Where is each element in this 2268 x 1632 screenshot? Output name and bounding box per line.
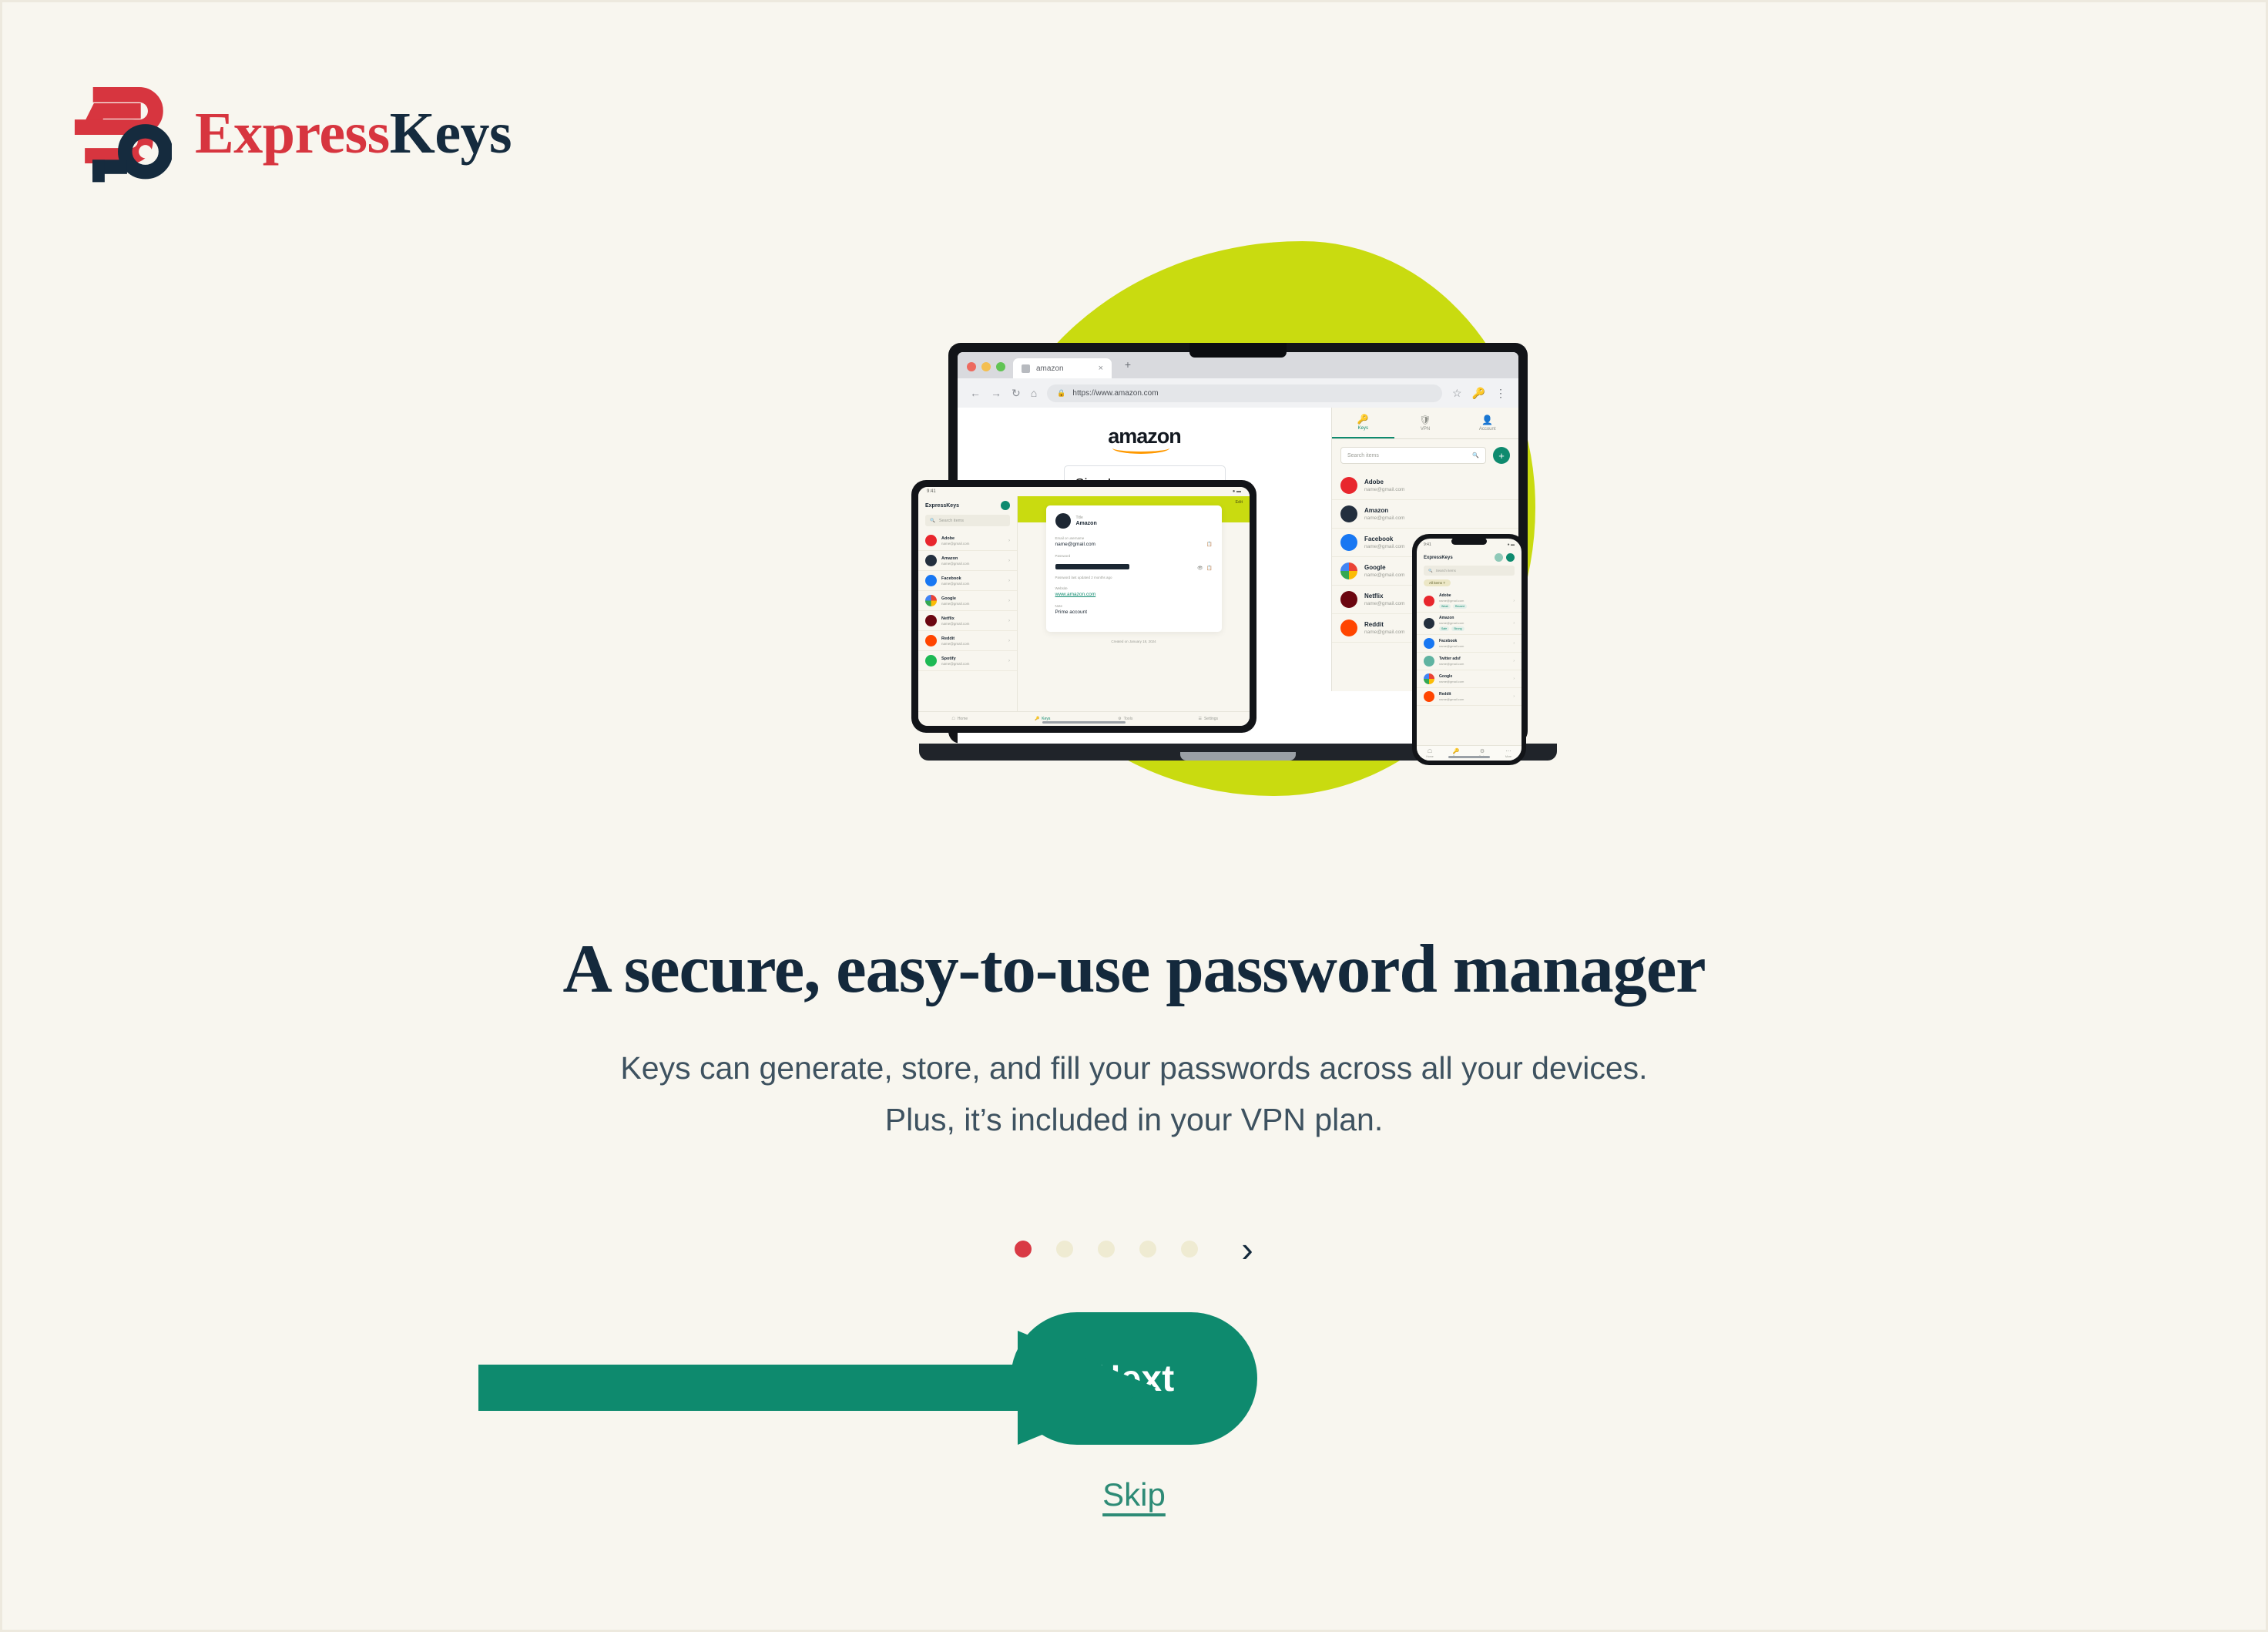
amazon-icon: [925, 555, 937, 566]
tablet-sidebar-header: ExpressKeys: [918, 496, 1017, 515]
tablet-tab-bar: ☖ Home 🔑 Keys ⚙ Tools ☰: [918, 711, 1250, 726]
list-item-subtitle: name@gmail.com: [941, 622, 1004, 626]
phone-tab-home-label: Home: [1426, 755, 1433, 758]
tablet-detail-pane: Edit Title Amazon: [1018, 496, 1250, 711]
list-item-name: Facebook: [941, 576, 1004, 581]
credential-username-field: Email or username name@gmail.com 📋: [1055, 536, 1213, 547]
list-item-subtitle: name@gmail.com: [941, 582, 1004, 586]
status-indicators-icon: ● ▬: [1233, 489, 1241, 494]
avatar[interactable]: [1506, 553, 1515, 562]
list-item-name: Spotify: [941, 656, 1004, 661]
list-item-subtitle: name@gmail.com: [1439, 662, 1508, 666]
chevron-right-icon[interactable]: ›: [1241, 1231, 1253, 1267]
tablet-viewport: 9:41 ● ▬ ExpressKeys 🔍 Search items: [918, 487, 1250, 726]
twitter-icon: [1424, 656, 1434, 667]
extension-search-placeholder: Search items: [1347, 453, 1379, 458]
brand-wordmark-keys: Keys: [390, 101, 512, 166]
list-item-name: Amazon: [941, 556, 1004, 561]
amazon-icon: [1424, 618, 1434, 629]
pagination-dot-3[interactable]: [1098, 1241, 1115, 1258]
status-indicators-icon: ● ▬: [1508, 542, 1515, 547]
list-item-name: Facebook: [1439, 639, 1508, 643]
extension-tab-bar: 🔑 Keys 🛡 VPN 👤 Account: [1332, 408, 1518, 439]
close-tab-icon[interactable]: ×: [1099, 364, 1103, 373]
tablet-edit-button[interactable]: Edit: [1236, 500, 1243, 505]
chevron-right-icon: ›: [1008, 599, 1010, 603]
list-item-tag: Reused: [1453, 604, 1467, 609]
tablet-credential-card: Title Amazon Email or username name@gmai…: [1046, 505, 1222, 632]
window-traffic-lights: [967, 362, 1005, 378]
status-time: 9:41: [1424, 542, 1431, 547]
list-item-name: Adobe: [941, 536, 1004, 541]
person-icon: 👤: [1481, 415, 1493, 425]
google-icon: [1424, 673, 1434, 684]
tablet-app-title: ExpressKeys: [925, 503, 959, 509]
credential-note-label: Note: [1055, 604, 1213, 608]
brand-wordmark: ExpressKeys: [195, 104, 512, 163]
home-icon: ☖: [951, 717, 955, 721]
phone-tab-bar: ☖ Home 🔑 Keys ⚙ Tools ⋯: [1417, 745, 1522, 761]
reddit-icon: [1340, 620, 1357, 636]
lock-icon: 🔒: [1057, 389, 1065, 398]
list-item[interactable]: Adobe name@gmail.com Weak Reused ›: [1417, 590, 1522, 613]
phone-filter-chip[interactable]: All items 7: [1424, 579, 1451, 586]
tablet-main: ExpressKeys 🔍 Search items Adobe: [918, 496, 1250, 711]
bookmark-icon[interactable]: ☆: [1452, 388, 1462, 398]
next-button[interactable]: Next: [1011, 1312, 1257, 1445]
adobe-icon: [1340, 477, 1357, 494]
credential-note-value: Prime account: [1055, 609, 1213, 615]
phone-notch: [1451, 538, 1487, 545]
list-item[interactable]: Amazon name@gmail.com ›: [918, 551, 1017, 571]
credential-password-hint: Password last updated 2 months ago: [1055, 576, 1213, 579]
phone-search-input[interactable]: 🔍 Search items: [1424, 566, 1515, 576]
close-window-icon[interactable]: [967, 362, 976, 371]
back-icon[interactable]: ←: [970, 388, 981, 398]
chevron-right-icon: ›: [1513, 641, 1515, 646]
list-item-name: Adobe: [1439, 593, 1508, 598]
key-icon: 🔑: [1453, 749, 1460, 754]
tablet-tab-home-label: Home: [958, 717, 968, 721]
copy-icon[interactable]: 📋: [1206, 542, 1212, 547]
list-item-subtitle: name@gmail.com: [941, 542, 1004, 546]
maximize-window-icon[interactable]: [996, 362, 1005, 371]
reddit-icon: [925, 635, 937, 646]
list-item-name: Reddit: [1439, 692, 1508, 697]
list-item-subtitle: name@gmail.com: [941, 662, 1004, 666]
extension-tab-keys[interactable]: 🔑 Keys: [1332, 408, 1394, 438]
phone-tab-home[interactable]: ☖ Home: [1417, 749, 1443, 758]
tablet-tab-settings-label: Settings: [1204, 717, 1218, 721]
list-item-name: Adobe: [1364, 479, 1510, 485]
extension-tab-account[interactable]: 👤 Account: [1456, 408, 1518, 438]
chevron-right-icon: ›: [1008, 659, 1010, 663]
tablet-bezel: 9:41 ● ▬ ExpressKeys 🔍 Search items: [911, 480, 1256, 733]
search-icon: 🔍: [1428, 569, 1433, 573]
facebook-icon: [1340, 534, 1357, 551]
list-item[interactable]: Spotify name@gmail.com ›: [918, 651, 1017, 671]
tablet-tab-settings[interactable]: ☰ Settings: [1167, 717, 1250, 721]
expresskeys-logo-icon: [70, 82, 172, 184]
tablet-tab-home[interactable]: ☖ Home: [918, 717, 1001, 721]
list-item[interactable]: Netflix name@gmail.com ›: [918, 611, 1017, 631]
avatar[interactable]: [1001, 501, 1010, 510]
list-item-subtitle: name@gmail.com: [1439, 644, 1508, 648]
key-icon: 🔑: [1357, 415, 1369, 424]
tab-favicon-icon: [1022, 364, 1030, 373]
chevron-right-icon: ›: [1513, 621, 1515, 626]
list-item[interactable]: Amazon name@gmail.com Safe Strong ›: [1417, 613, 1522, 635]
credential-title-label: Title: [1076, 515, 1097, 520]
list-item[interactable]: Reddit name@gmail.com ›: [918, 631, 1017, 651]
list-item[interactable]: Adobe name@gmail.com: [1332, 472, 1518, 500]
phone-app-title: ExpressKeys: [1424, 556, 1453, 560]
list-item[interactable]: Adobe name@gmail.com ›: [918, 531, 1017, 551]
adobe-icon: [925, 535, 937, 546]
browser-tab[interactable]: amazon ×: [1013, 358, 1112, 378]
list-item-subtitle: name@gmail.com: [941, 562, 1004, 566]
list-item[interactable]: Facebook name@gmail.com ›: [918, 571, 1017, 591]
tablet-search-placeholder: Search items: [939, 519, 964, 523]
list-item-tag: Safe: [1439, 626, 1449, 631]
pagination-dot-1[interactable]: [1015, 1241, 1032, 1258]
page-subtitle-line-2: Plus, it’s included in your VPN plan.: [2, 1094, 2266, 1145]
credential-website-field: Website www.amazon.com: [1055, 586, 1213, 597]
laptop-foot: [1180, 752, 1296, 761]
list-item[interactable]: Facebook name@gmail.com ›: [1417, 635, 1522, 653]
chevron-right-icon: ›: [1008, 639, 1010, 643]
amazon-icon: [1055, 513, 1071, 529]
phone-tab-more[interactable]: ⋯ More: [1495, 749, 1522, 758]
credential-password-masked: [1055, 564, 1129, 569]
skip-link[interactable]: Skip: [1102, 1476, 1166, 1513]
list-item-name: Amazon: [1364, 507, 1510, 514]
extension-tab-keys-label: Keys: [1358, 426, 1368, 431]
credential-password-field: Password 👁 📋 Password last updated: [1055, 554, 1213, 579]
chevron-right-icon: ›: [1513, 659, 1515, 663]
carousel-pagination: ›: [2, 1231, 2266, 1267]
shield-icon: 🛡: [1419, 415, 1431, 425]
extension-tab-account-label: Account: [1479, 427, 1496, 432]
phone-bezel: 9:41 ● ▬ ExpressKeys 🔍 Search items: [1412, 534, 1526, 765]
credential-password-label: Password: [1055, 554, 1213, 558]
list-item-name: Google: [941, 596, 1004, 601]
chevron-right-icon: ›: [1008, 539, 1010, 543]
more-icon: ⋯: [1506, 749, 1511, 754]
list-item-subtitle: name@gmail.com: [1364, 515, 1510, 521]
home-icon: ☖: [1428, 749, 1432, 754]
list-item-subtitle: name@gmail.com: [1439, 599, 1508, 603]
extension-search-input[interactable]: Search items 🔍: [1340, 447, 1486, 464]
netflix-icon: [1340, 591, 1357, 608]
hero-illustration: amazon × + ← → ↻ ⌂ 🔒 https://www.amazon.…: [911, 226, 1605, 912]
tablet-sidebar: ExpressKeys 🔍 Search items Adobe: [918, 496, 1018, 711]
phone-viewport: 9:41 ● ▬ ExpressKeys 🔍 Search items: [1417, 539, 1522, 761]
tablet-search-input[interactable]: 🔍 Search items: [925, 515, 1010, 526]
chevron-right-icon: ›: [1008, 579, 1010, 583]
tablet-home-indicator: [1042, 721, 1126, 724]
gear-icon: ☰: [1198, 717, 1201, 721]
reload-icon[interactable]: ↻: [1012, 388, 1021, 398]
address-bar-url: https://www.amazon.com: [1072, 389, 1158, 398]
spotify-icon: [925, 655, 937, 667]
credential-created-date: Created on January 18, 2024: [1111, 640, 1156, 643]
cta-row: Next: [2, 1312, 2266, 1445]
page-subtitle: Keys can generate, store, and fill your …: [2, 1043, 2266, 1145]
chevron-right-icon: ›: [1008, 619, 1010, 623]
list-item[interactable]: Twitter adsf name@gmail.com ›: [1417, 653, 1522, 670]
amazon-icon: [1340, 505, 1357, 522]
list-item[interactable]: Google name@gmail.com ›: [1417, 670, 1522, 688]
list-item[interactable]: Google name@gmail.com ›: [918, 591, 1017, 611]
brand-header: ExpressKeys: [70, 82, 512, 184]
phone-home-indicator: [1448, 756, 1490, 758]
chevron-right-icon: ›: [1008, 559, 1010, 563]
expresskeys-extension-icon[interactable]: 🔑: [1472, 387, 1485, 400]
chevron-right-icon: ›: [1513, 677, 1515, 681]
credential-website-value[interactable]: www.amazon.com: [1055, 592, 1213, 597]
tools-icon: ⚙: [1480, 749, 1485, 754]
onboarding-screen: ExpressKeys amazon: [0, 0, 2268, 1632]
status-time: 9:41: [927, 489, 936, 494]
browser-address-bar-row: ← → ↻ ⌂ 🔒 https://www.amazon.com ☆ 🔑 ⋮: [958, 378, 1518, 408]
phone-search-placeholder: Search items: [1436, 569, 1456, 573]
google-icon: [925, 595, 937, 606]
list-item-name: Reddit: [941, 636, 1004, 641]
device-tablet: 9:41 ● ▬ ExpressKeys 🔍 Search items: [911, 480, 1256, 733]
chevron-right-icon: ›: [1513, 599, 1515, 603]
list-item-tag: Weak: [1439, 604, 1451, 609]
adobe-icon: [1424, 596, 1434, 606]
list-item-subtitle: name@gmail.com: [1439, 621, 1508, 625]
netflix-icon: [925, 615, 937, 626]
pagination-dots: [1015, 1241, 1198, 1258]
pagination-dot-5[interactable]: [1181, 1241, 1198, 1258]
page-title: A secure, easy-to-use password manager: [2, 933, 2266, 1006]
forward-icon[interactable]: →: [991, 388, 1001, 398]
key-icon: 🔑: [1035, 717, 1039, 721]
extension-search-row: Search items 🔍 +: [1332, 439, 1518, 472]
address-bar-input[interactable]: 🔒 https://www.amazon.com: [1047, 384, 1442, 402]
list-item-tag: Strong: [1451, 626, 1464, 631]
extension-tab-vpn[interactable]: 🛡 VPN: [1394, 408, 1457, 438]
new-tab-icon[interactable]: +: [1119, 356, 1136, 378]
list-item-subtitle: name@gmail.com: [1439, 697, 1508, 701]
phone-header: ExpressKeys: [1417, 551, 1522, 566]
list-item[interactable]: Reddit name@gmail.com ›: [1417, 688, 1522, 706]
sync-icon[interactable]: [1495, 553, 1503, 562]
onboarding-copy: A secure, easy-to-use password manager K…: [2, 933, 2266, 1145]
chevron-right-icon: ›: [1513, 694, 1515, 699]
browser-tab-title: amazon: [1036, 364, 1092, 373]
list-item[interactable]: Amazon name@gmail.com: [1332, 500, 1518, 529]
credential-card-header: Title Amazon: [1055, 513, 1213, 529]
phone-item-list: Adobe name@gmail.com Weak Reused ›: [1417, 590, 1522, 745]
browser-menu-icon[interactable]: ⋮: [1495, 387, 1506, 400]
laptop-notch: [1189, 343, 1287, 358]
facebook-icon: [925, 575, 937, 586]
amazon-logo: amazon: [1108, 425, 1181, 448]
tablet-tab-tools-label: Tools: [1124, 717, 1133, 721]
pagination-dot-4[interactable]: [1139, 1241, 1156, 1258]
credential-note-field: Note Prime account: [1055, 604, 1213, 615]
list-item-name: Amazon: [1439, 616, 1508, 620]
amazon-smile-icon: [1112, 442, 1169, 454]
facebook-icon: [1424, 638, 1434, 649]
skip-link-row: Skip: [2, 1476, 2266, 1513]
credential-username-label: Email or username: [1055, 536, 1213, 540]
search-icon: 🔍: [930, 519, 935, 523]
list-item-subtitle: name@gmail.com: [941, 602, 1004, 606]
reddit-icon: [1424, 691, 1434, 702]
extension-add-item-button[interactable]: +: [1493, 447, 1510, 464]
list-item-name: Google: [1439, 674, 1508, 679]
minimize-window-icon[interactable]: [981, 362, 991, 371]
list-item-subtitle: name@gmail.com: [1439, 680, 1508, 683]
list-item-name: Netflix: [941, 616, 1004, 621]
search-icon: 🔍: [1472, 452, 1479, 458]
credential-username-value: name@gmail.com: [1055, 542, 1095, 547]
eye-icon[interactable]: 👁: [1197, 566, 1203, 571]
copy-icon[interactable]: 📋: [1206, 566, 1212, 571]
google-icon: [1340, 562, 1357, 579]
credential-title-value: Amazon: [1076, 521, 1097, 526]
phone-tab-more-label: More: [1505, 755, 1511, 758]
brand-wordmark-express: Express: [195, 101, 390, 166]
tablet-status-bar: 9:41 ● ▬: [918, 487, 1250, 496]
device-phone: 9:41 ● ▬ ExpressKeys 🔍 Search items: [1412, 534, 1526, 765]
page-subtitle-line-1: Keys can generate, store, and fill your …: [2, 1043, 2266, 1093]
pagination-dot-2[interactable]: [1056, 1241, 1073, 1258]
credential-website-label: Website: [1055, 586, 1213, 590]
home-icon[interactable]: ⌂: [1031, 388, 1037, 398]
extension-tab-vpn-label: VPN: [1421, 427, 1430, 432]
list-item-subtitle: name@gmail.com: [1364, 487, 1510, 492]
list-item-subtitle: name@gmail.com: [941, 642, 1004, 646]
list-item-name: Twitter adsf: [1439, 656, 1508, 661]
